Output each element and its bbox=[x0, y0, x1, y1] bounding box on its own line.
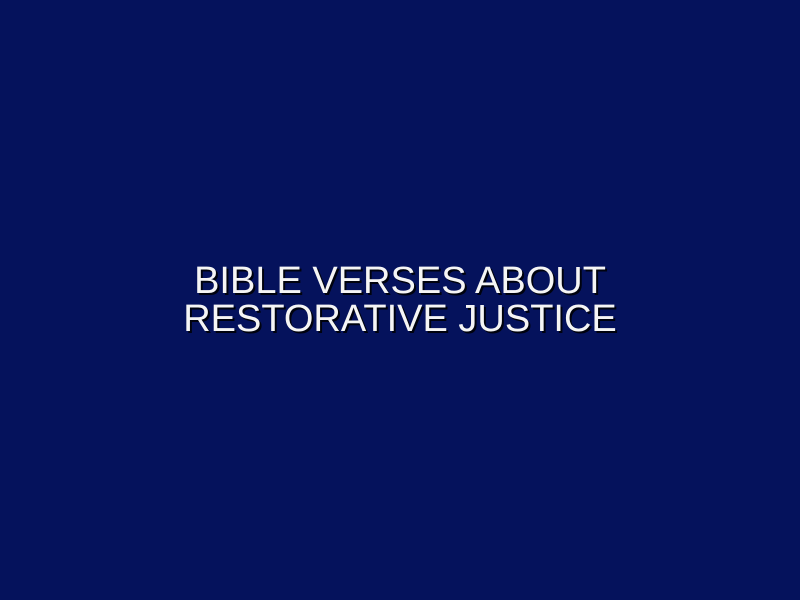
title-block: BIBLE VERSES ABOUT RESTORATIVE JUSTICE bbox=[0, 0, 800, 600]
page-title: BIBLE VERSES ABOUT RESTORATIVE JUSTICE bbox=[90, 262, 710, 338]
title-slide: BIBLE VERSES ABOUT RESTORATIVE JUSTICE bbox=[0, 0, 800, 600]
